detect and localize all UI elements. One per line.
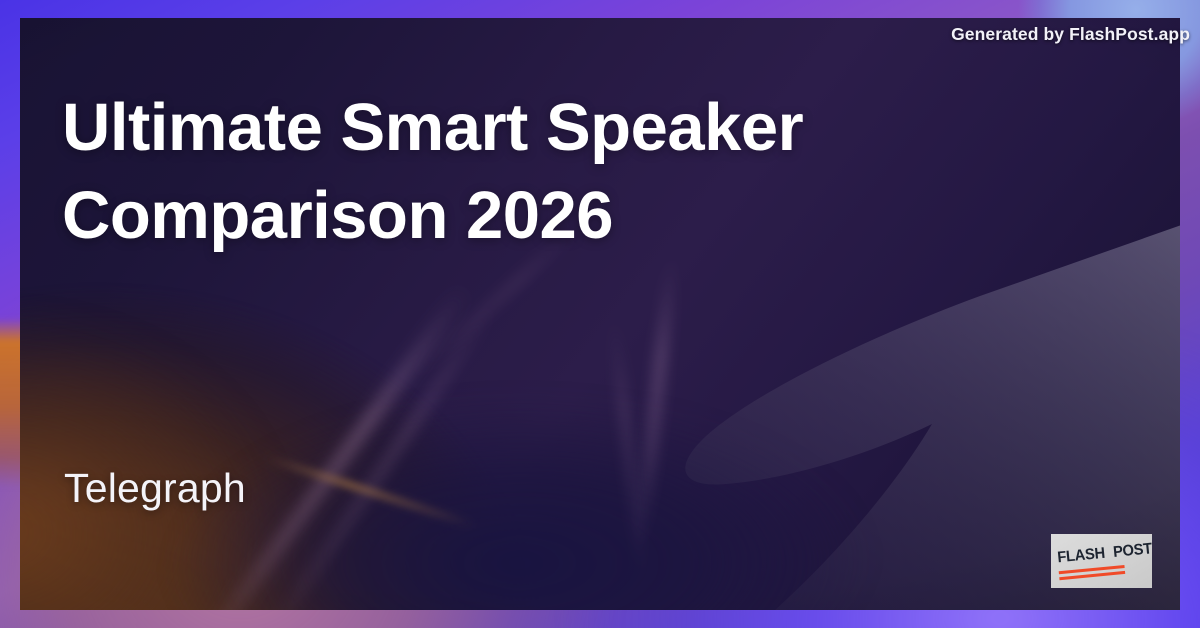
logo-divider-bar	[1109, 536, 1112, 566]
social-card-poster: Ultimate Smart Speaker Comparison 2026 T…	[0, 0, 1200, 628]
source-label: Telegraph	[64, 465, 246, 512]
logo-word-post: POST	[1113, 541, 1152, 561]
flashpost-logo-mark: FLASH POST ™	[1057, 541, 1150, 583]
logo-word-flash: FLASH	[1057, 546, 1106, 566]
generated-by-watermark: Generated by FlashPost.app	[951, 24, 1190, 45]
flashpost-logo-badge: FLASH POST ™	[1051, 534, 1152, 588]
page-title: Ultimate Smart Speaker Comparison 2026	[62, 84, 962, 260]
flashpost-logo-wordmark: FLASH POST ™	[1057, 541, 1148, 567]
card-canvas: Ultimate Smart Speaker Comparison 2026 T…	[20, 18, 1180, 610]
